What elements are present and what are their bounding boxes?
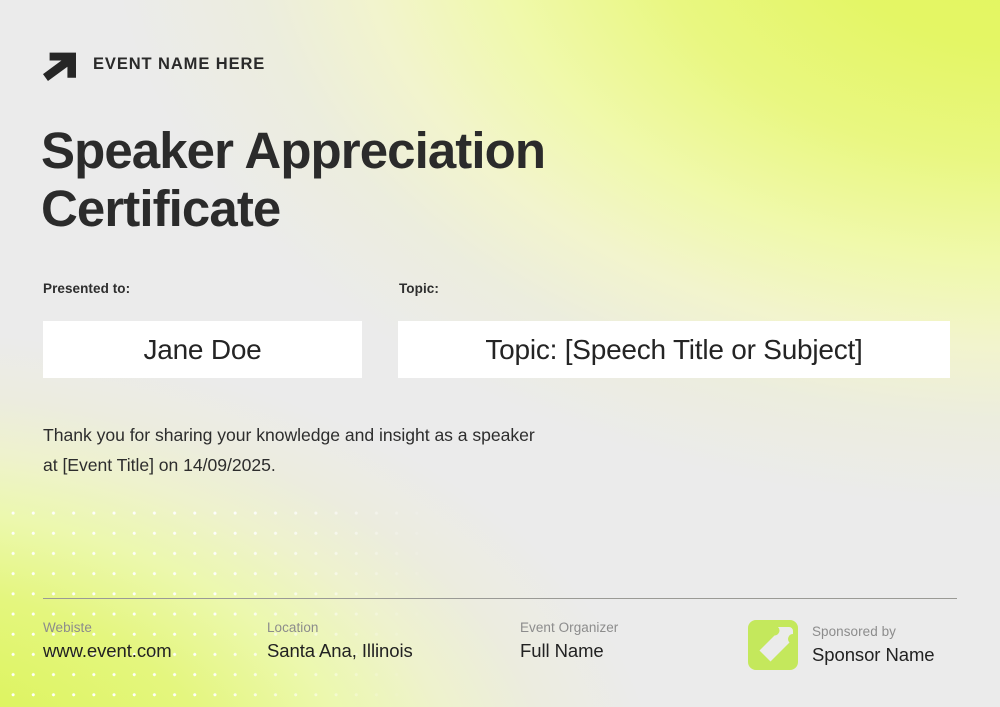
footer-sponsor-value: Sponsor Name: [812, 644, 935, 666]
topic-field-box[interactable]: Topic: [Speech Title or Subject]: [398, 321, 950, 378]
recipient-field-label: Presented to:: [43, 281, 130, 296]
page-title-line-1: Speaker Appreciation: [41, 122, 545, 179]
footer-sponsor-label: Sponsored by: [812, 624, 935, 639]
footer-website-column: Webiste www.event.com: [43, 620, 172, 662]
page-title: Speaker Appreciation Certificate: [41, 122, 661, 238]
footer-divider: [43, 598, 957, 599]
footer-sponsor-text: Sponsored by Sponsor Name: [812, 624, 935, 666]
brand-name: EVENT NAME HERE: [93, 55, 265, 74]
recipient-name: Jane Doe: [143, 334, 261, 366]
recipient-field-box[interactable]: Jane Doe: [43, 321, 362, 378]
footer-organizer-column: Event Organizer Full Name: [520, 620, 618, 662]
footer-location-label: Location: [267, 620, 413, 635]
footer-location-column: Location Santa Ana, Illinois: [267, 620, 413, 662]
arrow-up-right-icon: [43, 48, 76, 81]
appreciation-message: Thank you for sharing your knowledge and…: [43, 420, 643, 481]
topic-field-label: Topic:: [399, 281, 439, 296]
certificate-content: EVENT NAME HERE Speaker Appreciation Cer…: [0, 0, 1000, 707]
sponsor-diagonal-arrow-icon: [748, 620, 798, 670]
footer-organizer-value: Full Name: [520, 640, 618, 662]
page-title-line-2: Certificate: [41, 180, 280, 237]
appreciation-message-line-1: Thank you for sharing your knowledge and…: [43, 425, 535, 445]
footer: Webiste www.event.com Location Santa Ana…: [0, 620, 1000, 680]
footer-organizer-label: Event Organizer: [520, 620, 618, 635]
footer-location-value: Santa Ana, Illinois: [267, 640, 413, 662]
topic-value: Topic: [Speech Title or Subject]: [485, 334, 862, 366]
footer-website-label: Webiste: [43, 620, 172, 635]
brand-header: EVENT NAME HERE: [43, 48, 265, 81]
appreciation-message-line-2: at [Event Title] on 14/09/2025.: [43, 455, 276, 475]
footer-sponsor-column: Sponsored by Sponsor Name: [748, 620, 935, 670]
footer-website-value[interactable]: www.event.com: [43, 640, 172, 662]
certificate-canvas: EVENT NAME HERE Speaker Appreciation Cer…: [0, 0, 1000, 707]
